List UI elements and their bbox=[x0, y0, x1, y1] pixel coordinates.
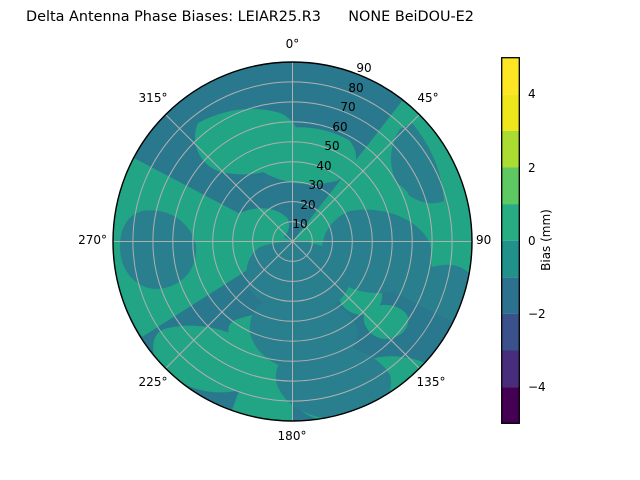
r-label-20: 20 bbox=[300, 198, 315, 212]
r-label-90: 90 bbox=[356, 61, 371, 75]
colorbar-tick-0: 0 bbox=[528, 234, 536, 248]
theta-label-135: 135° bbox=[408, 375, 454, 389]
theta-label-225: 225° bbox=[130, 375, 176, 389]
figure-canvas: Delta Antenna Phase Biases: LEIAR25.R3 N… bbox=[0, 0, 640, 480]
colorbar-bands bbox=[502, 58, 520, 424]
r-label-40: 40 bbox=[316, 159, 331, 173]
r-label-50: 50 bbox=[324, 139, 339, 153]
colorbar-axis-label: Bias (mm) bbox=[539, 209, 553, 271]
colorbar: 4 2 0 −2 −4 bbox=[501, 57, 520, 424]
theta-label-180: 180° bbox=[269, 429, 315, 443]
r-label-10: 10 bbox=[292, 217, 307, 231]
angular-gridlines bbox=[113, 62, 472, 421]
theta-label-270: 270° bbox=[61, 233, 107, 247]
colorbar-tick-neg4: −4 bbox=[528, 380, 546, 394]
r-label-70: 70 bbox=[340, 100, 355, 114]
colorbar-tick-4: 4 bbox=[528, 87, 536, 101]
theta-label-0: 0° bbox=[275, 37, 310, 51]
r-label-80: 80 bbox=[348, 81, 363, 95]
colorbar-svg bbox=[501, 57, 520, 424]
theta-label-45: 45° bbox=[408, 91, 448, 105]
theta-label-315: 315° bbox=[130, 91, 176, 105]
polar-plot-svg bbox=[112, 61, 473, 422]
chart-title: Delta Antenna Phase Biases: LEIAR25.R3 N… bbox=[0, 8, 500, 26]
colorbar-tick-neg2: −2 bbox=[528, 307, 546, 321]
r-label-30: 30 bbox=[308, 178, 323, 192]
r-label-60: 60 bbox=[332, 120, 347, 134]
polar-axes: 0° 45° 90 135° 180° 225° 270° 315° 10 20… bbox=[112, 61, 473, 422]
colorbar-tick-2: 2 bbox=[528, 161, 536, 175]
